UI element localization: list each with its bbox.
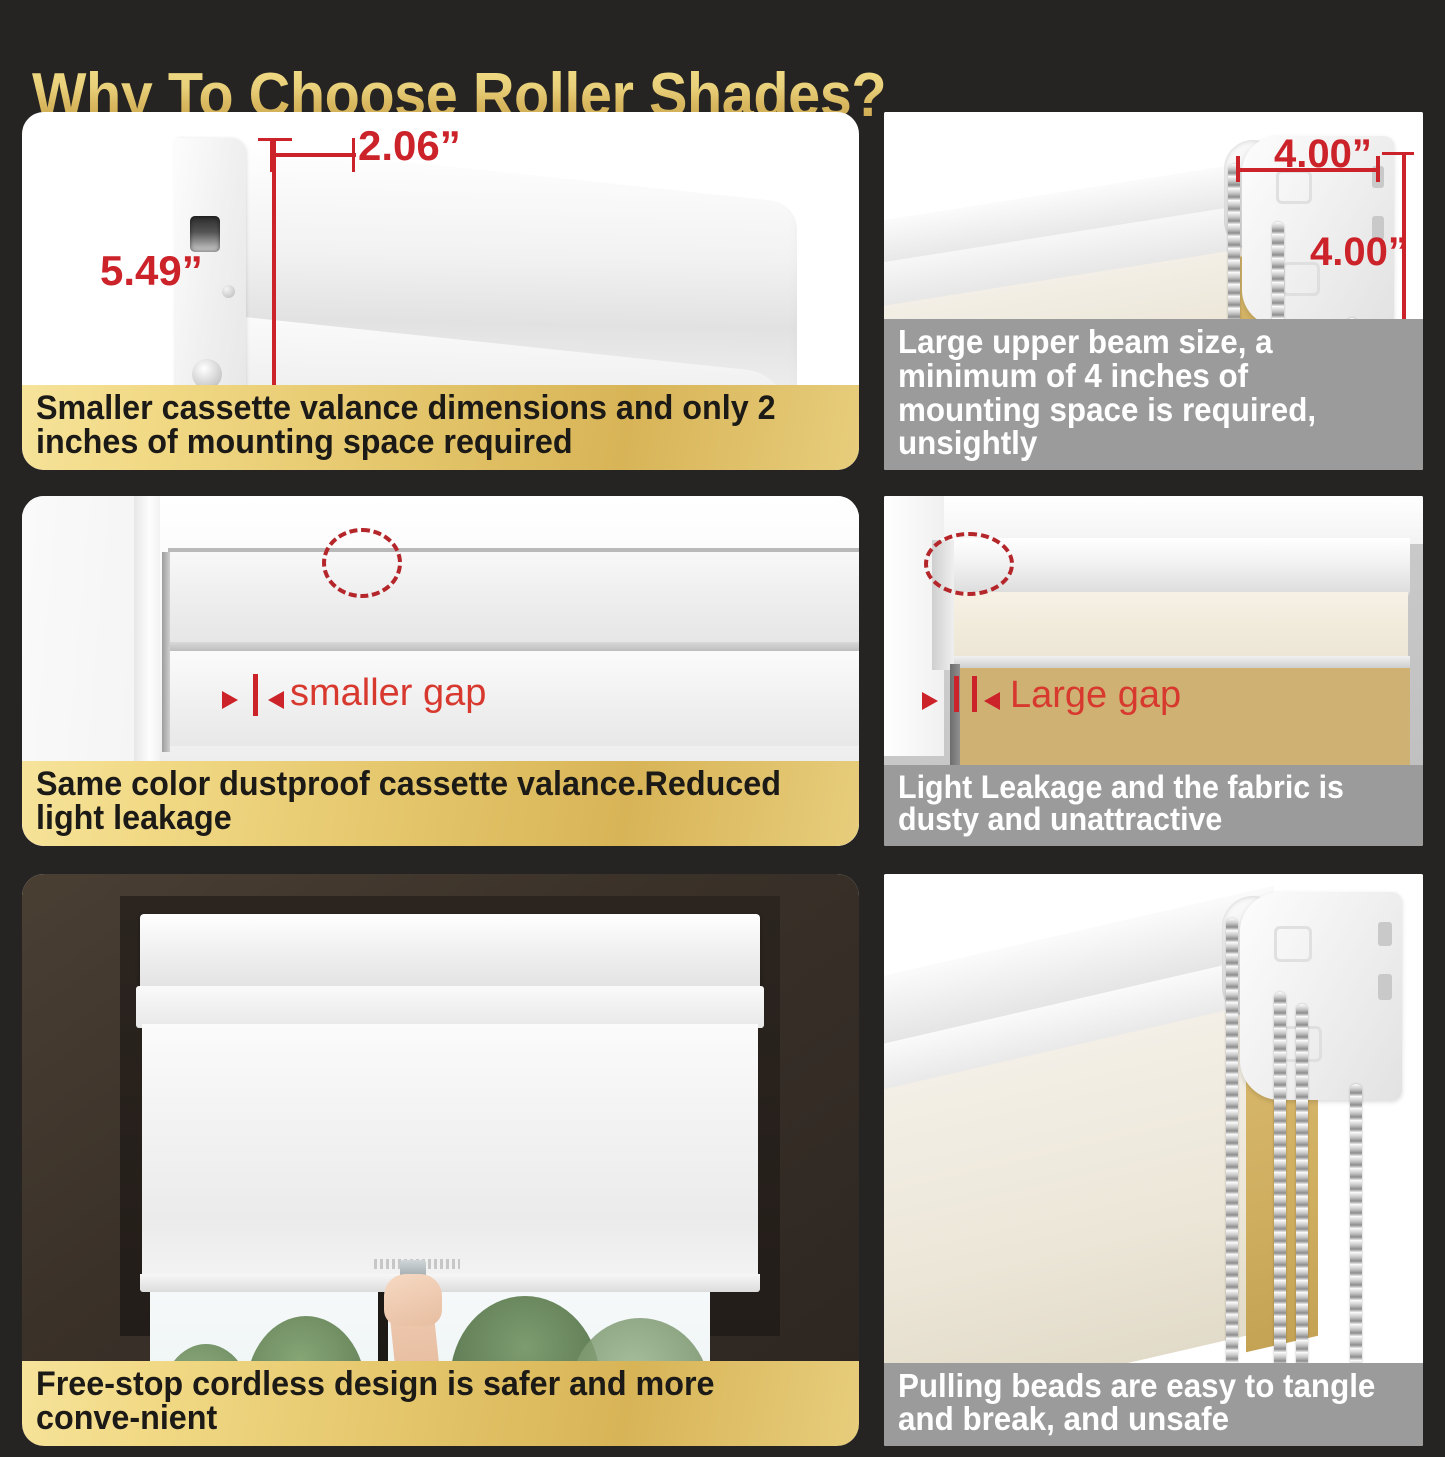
window-jamb [134, 496, 160, 781]
panel-6-caption: Pulling beads are easy to tangle and bre… [884, 1363, 1423, 1446]
bracket-notch-top [1378, 922, 1392, 946]
comparison-row-3: Free-stop cordless design is safer and m… [0, 874, 1445, 1457]
bead-chain-mid-2 [1296, 1004, 1308, 1368]
gap-label: smaller gap [290, 672, 486, 715]
comparison-row-2: smaller gap Same color dustproof cassett… [0, 496, 1445, 860]
panel-cordless-design[interactable]: Free-stop cordless design is safer and m… [22, 874, 859, 1446]
panel-5-caption: Free-stop cordless design is safer and m… [22, 1361, 859, 1446]
cream-fabric-band [946, 592, 1408, 662]
bead-chain-mid [1274, 992, 1286, 1368]
valance-lower-lip [136, 986, 764, 1028]
gap-label: Large gap [1010, 674, 1181, 717]
shade-upper-panel [168, 552, 859, 644]
photo-bead-chain-shade [884, 874, 1423, 1446]
panel-6-caption-text: Pulling beads are easy to tangle and bre… [898, 1369, 1383, 1436]
panel-1-caption-text: Smaller cassette valance dimensions and … [36, 391, 805, 460]
roller-shade-fabric [142, 1024, 758, 1284]
bracket-emboss-upper [1274, 926, 1312, 962]
gap-arrow-right-icon [268, 691, 284, 709]
bead-chain-right [1350, 1084, 1362, 1366]
panel-4-caption: Light Leakage and the fabric is dusty an… [884, 765, 1423, 846]
panel-2-caption-text: Large upper beam size, a minimum of 4 in… [898, 325, 1383, 460]
infographic-page: Why To Choose Roller Shades? [0, 0, 1445, 1445]
gap-arrow-left-icon [222, 691, 238, 709]
panel-5-caption-text: Free-stop cordless design is safer and m… [36, 1367, 805, 1436]
cassette-valance [140, 914, 760, 996]
panel-3-caption: Same color dustproof cassette valance.Re… [22, 761, 859, 846]
bracket-notch-bottom [1378, 974, 1392, 1000]
panel-large-upper-beam[interactable]: 4.00” 4.00” Large upper beam size, a min… [884, 112, 1423, 470]
gap-arrow-right-icon [984, 692, 1000, 710]
screw-icon [222, 285, 235, 298]
highlight-circle-icon [322, 528, 402, 598]
panel-2-caption: Large upper beam size, a minimum of 4 in… [884, 319, 1423, 470]
shade-left-edge [162, 552, 170, 752]
dim-tick-top [258, 138, 292, 141]
panel-4-caption-text: Light Leakage and the fabric is dusty an… [898, 771, 1383, 836]
width-dimension-label: 2.06” [358, 122, 461, 170]
comparison-row-1: 2.06” 5.49” Smaller cassette valance dim… [0, 112, 1445, 482]
panel-1-caption: Smaller cassette valance dimensions and … [22, 385, 859, 470]
dim-tick-top [1382, 152, 1414, 155]
width-dimension-label: 4.00” [1274, 132, 1372, 177]
highlight-circle-icon [924, 532, 1014, 596]
panel-3-caption-text: Same color dustproof cassette valance.Re… [36, 767, 805, 836]
hand-knuckles [384, 1274, 442, 1326]
panel-pulling-beads[interactable]: Pulling beads are easy to tangle and bre… [884, 874, 1423, 1446]
gap-marker-line-b [972, 676, 977, 712]
panel-dustproof-cassette[interactable]: smaller gap Same color dustproof cassett… [22, 496, 859, 846]
gap-arrow-left-icon [922, 692, 938, 710]
dim-line-width [270, 153, 356, 157]
bead-chain-left [1226, 918, 1238, 1366]
shade-bottom-rail [140, 1274, 760, 1292]
gap-marker-line-a [954, 676, 959, 712]
comparison-grid: 2.06” 5.49” Smaller cassette valance dim… [0, 112, 1445, 1457]
gap-marker-line [253, 674, 258, 716]
panel-light-leakage[interactable]: Large gap Light Leakage and the fabric i… [884, 496, 1423, 846]
height-dimension-label: 4.00” [1310, 230, 1408, 275]
panel-cassette-valance-dimensions[interactable]: 2.06” 5.49” Smaller cassette valance dim… [22, 112, 859, 470]
height-dimension-label: 5.49” [100, 247, 203, 295]
